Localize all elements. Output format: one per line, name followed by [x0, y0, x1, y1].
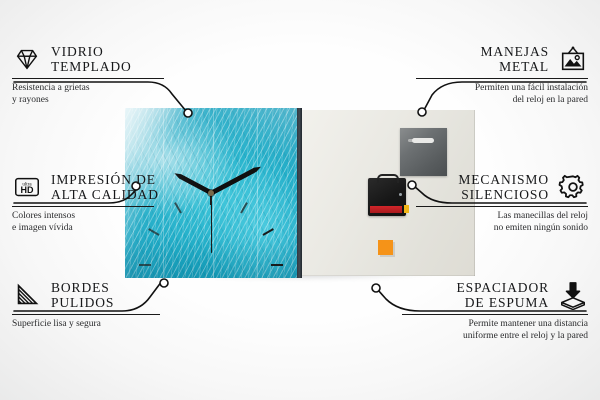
picture-frame-hanger-icon [558, 44, 588, 74]
feature-divider [12, 78, 164, 79]
feature-title: ESPACIADOR DE ESPUMA [456, 280, 549, 310]
feature-subtitle: Permite mantener una distancia uniforme … [378, 319, 588, 342]
feature-heading: ESPACIADOR DE ESPUMA [378, 280, 588, 310]
polished-edge-icon [12, 280, 42, 310]
feature-espaciador-espuma: ESPACIADOR DE ESPUMA Permite mantener un… [378, 280, 588, 342]
feature-subtitle: Las manecillas del reloj no emiten ningú… [378, 211, 588, 234]
feature-divider [12, 314, 160, 315]
feature-heading: VIDRIO TEMPLADO [12, 44, 222, 74]
feature-divider [402, 314, 588, 315]
feature-heading: BORDES PULIDOS [12, 280, 222, 310]
foam-spacer-arrow-icon [558, 280, 588, 310]
feature-subtitle: Superficie lisa y segura [12, 319, 222, 331]
svg-text:HD: HD [21, 185, 34, 195]
feature-mecanismo-silencioso: MECANISMO SILENCIOSO Las manecillas del … [378, 172, 588, 234]
feature-heading: MANEJAS METAL [378, 44, 588, 74]
feature-title: MECANISMO SILENCIOSO [458, 172, 549, 202]
feature-divider [416, 78, 588, 79]
feature-subtitle: Colores intensos e imagen vívida [12, 211, 222, 234]
feature-title: MANEJAS METAL [480, 44, 549, 74]
feature-vidrio-templado: VIDRIO TEMPLADO Resistencia a grietas y … [12, 44, 222, 106]
feature-heading: ultra HD IMPRESIÓN DE ALTA CALIDAD [12, 172, 222, 202]
feature-divider [416, 206, 588, 207]
feature-title: IMPRESIÓN DE ALTA CALIDAD [51, 172, 159, 202]
feature-manejas-metal: MANEJAS METAL Permiten una fácil instala… [378, 44, 588, 106]
gear-icon [558, 172, 588, 202]
feature-impresion-alta-calidad: ultra HD IMPRESIÓN DE ALTA CALIDAD Color… [12, 172, 222, 234]
hanger-slot [412, 138, 434, 143]
diamond-icon [12, 44, 42, 74]
feature-title: BORDES PULIDOS [51, 280, 114, 310]
ultra-hd-icon: ultra HD [12, 172, 42, 202]
feature-subtitle: Permiten una fácil instalación del reloj… [378, 83, 588, 106]
foam-spacer [378, 240, 393, 255]
feature-subtitle: Resistencia a grietas y rayones [12, 83, 222, 106]
feature-heading: MECANISMO SILENCIOSO [378, 172, 588, 202]
feature-bordes-pulidos: BORDES PULIDOS Superficie lisa y segura [12, 280, 222, 331]
hanger-plate [400, 128, 447, 176]
feature-title: VIDRIO TEMPLADO [51, 44, 132, 74]
feature-divider [12, 206, 154, 207]
product-feature-poster: VIDRIO TEMPLADO Resistencia a grietas y … [0, 0, 600, 400]
